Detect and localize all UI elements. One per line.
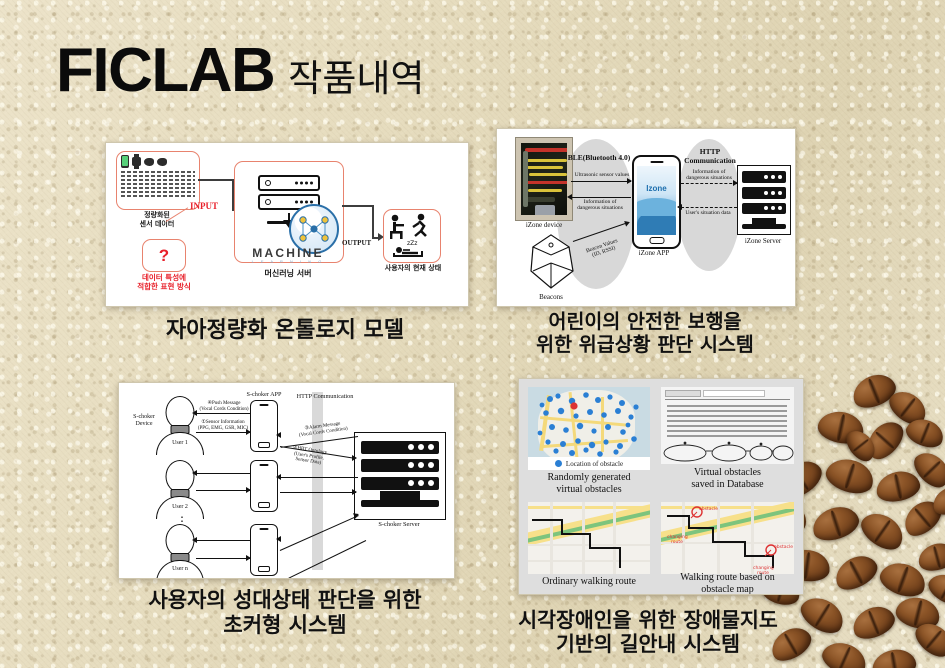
- arrow-push-2: [196, 473, 250, 474]
- arrowhead-hbt-1: [352, 455, 357, 461]
- page-subtitle: 작품내역: [288, 60, 424, 97]
- coffee-bean: [855, 506, 909, 556]
- arrow-hbt-2: [280, 492, 356, 493]
- phone-icon: [121, 155, 129, 168]
- label-danger-info: Information of dangerous situations: [571, 199, 629, 212]
- s-choker-device-label: S-choker Device: [122, 414, 166, 428]
- coffee-bean: [848, 601, 899, 644]
- question-box: ?: [142, 239, 186, 272]
- label-hbt-ontology: ②HBT Ontology (User's Profile, Sensor Da…: [279, 444, 339, 469]
- arrow-push-1: [196, 413, 250, 414]
- arrowhead-alarm-n: [276, 536, 281, 542]
- svg-text:obstacle: obstacle: [774, 544, 793, 550]
- arrowhead-sensor-n: [246, 555, 251, 561]
- label-danger-to-server: Information of dangerous situations: [679, 169, 739, 182]
- s-choker-server-label: S-choker Server: [356, 521, 442, 528]
- arrow-sensor-1: [196, 432, 250, 433]
- activity-pictograms: zZz: [384, 210, 440, 262]
- coffee-bean: [808, 501, 862, 545]
- page-title: FICLAB 작품내역: [56, 40, 424, 102]
- sensor-data-label: 정량화된 센서 데이터: [110, 211, 204, 229]
- user-2-label: User 2: [150, 504, 210, 510]
- input-word: INPUT: [190, 201, 218, 211]
- database-table-image: [661, 387, 794, 464]
- coffee-bean: [873, 468, 922, 506]
- sub-caption-3: Ordinary walking route: [523, 576, 655, 588]
- sensor-data-box: [116, 151, 200, 210]
- arrowhead-alarm-1: [276, 432, 281, 438]
- ordinary-route-image: [528, 502, 650, 574]
- question-mark: ?: [143, 240, 185, 271]
- phone-user-2: [250, 460, 278, 512]
- arrow-ultrasonic: [571, 181, 631, 182]
- http-band: [312, 392, 323, 570]
- arrowhead-hbt-2: [352, 489, 357, 495]
- izone-server-label: iZone Server: [731, 237, 795, 245]
- label-sensor-information: ①Sensor Information (PPG, EMG, GSR, MIC): [192, 420, 254, 431]
- project-caption-1: 자아정량화 온톨로지 모델: [75, 318, 495, 344]
- user-n-label: User n: [150, 566, 210, 572]
- arrow-danger-info: [571, 197, 631, 198]
- project-caption-2: 어린이의 안전한 보행을 위한 위급상황 판단 시스템: [480, 310, 810, 356]
- beacon-icon: [525, 233, 577, 291]
- ml-server-label: 머신러닝 서버: [234, 269, 342, 279]
- learning-word: L E A R N I N G: [234, 259, 342, 264]
- svg-text:zZz: zZz: [407, 240, 417, 247]
- sub-caption-2: Virtual obstacles saved in Database: [661, 467, 794, 491]
- izone-device-photo: [515, 137, 573, 221]
- izone-app-label: iZone APP: [622, 249, 686, 257]
- question-label: 데이터 특성에 적합한 표현 방식: [124, 273, 204, 292]
- izone-device-label: iZone device: [509, 221, 579, 229]
- arrowhead-alarm-2: [276, 474, 281, 480]
- label-push-message: ④Push Message (Vocal Cords Condition): [194, 401, 254, 412]
- beacons-label: Beacons: [521, 293, 581, 301]
- output-word: OUTPUT: [342, 239, 371, 247]
- device-icons: [121, 155, 167, 168]
- machine-word: MACHINE: [234, 246, 342, 260]
- user-state-box: zZz: [383, 209, 441, 263]
- arrowhead-sensor-2: [246, 487, 251, 493]
- ble-title: BLE(Bluetooth 4.0): [563, 153, 635, 162]
- sub-caption-1: Randomly generated virtual obstacles: [523, 472, 655, 496]
- legend-text: Location of obstacle: [566, 460, 623, 468]
- http-communication-label: HTTP Communication: [282, 393, 368, 400]
- coffee-bean: [818, 636, 871, 668]
- arrow-alarm-2: [280, 477, 358, 478]
- user-state-label: 사용자의 현재 상태: [368, 264, 458, 273]
- app-logo-text: Izone: [637, 184, 676, 193]
- arrow-user-situation: [681, 207, 737, 208]
- arrow-sensor-2: [196, 490, 250, 491]
- data-lines: [121, 171, 195, 199]
- brand-name: FICLAB: [56, 40, 274, 102]
- arrow-danger-to-server: [681, 183, 737, 184]
- project-image-4[interactable]: Location of obstacle Randomly generated …: [518, 378, 804, 595]
- connector-ml-v: [372, 205, 374, 239]
- obstacle-marker-icon: [555, 460, 562, 467]
- izone-app-phone: Izone: [632, 155, 681, 249]
- svg-text:obstacle: obstacle: [699, 506, 718, 512]
- arrowhead-push-2: [192, 470, 197, 476]
- user-1-label: User 1: [150, 440, 210, 446]
- sub-caption-4: Walking route based on obstacle map: [661, 572, 794, 595]
- arrowhead-ultrasonic: [627, 178, 632, 184]
- arrow-push-n: [196, 540, 250, 541]
- map-legend: Location of obstacle: [528, 457, 650, 470]
- connector-ml-h: [342, 205, 374, 207]
- label-user-situation: User's situation data: [677, 210, 739, 216]
- arrowhead-push-n: [192, 537, 197, 543]
- project-image-2[interactable]: iZone device Beacons Izone iZone APP: [496, 128, 796, 307]
- arrow-sensor-n: [196, 558, 250, 559]
- obstacle-route-image: obstacle changing route obstacle changin…: [661, 502, 794, 574]
- http-title: HTTP Communication: [679, 147, 741, 165]
- project-image-1[interactable]: 정량화된 센서 데이터 ? 데이터 특성에 적합한 표현 방식 INPUT: [105, 142, 469, 307]
- coffee-bean: [870, 646, 918, 668]
- phone-user-n: [250, 524, 278, 576]
- earbud-icon: [144, 158, 154, 166]
- obstacle-map-image: Location of obstacle: [528, 387, 650, 470]
- coffee-bean: [830, 549, 882, 595]
- svg-text:route: route: [671, 539, 683, 545]
- arrowhead-user-situation: [677, 204, 682, 210]
- arrow-alarm-n: [288, 540, 366, 579]
- smartwatch-icon: [132, 157, 141, 166]
- project-caption-3: 사용자의 성대상태 판단을 위한 초커형 시스템: [70, 588, 500, 638]
- s-choker-server-icon: [354, 432, 446, 520]
- earbud-icon-2: [157, 158, 167, 166]
- coffee-bean: [915, 540, 945, 575]
- project-image-3[interactable]: S-choker Device User 1 User 2 ⋮ User n S…: [118, 382, 455, 579]
- connector-src-h: [198, 179, 234, 181]
- phone-user-1: [250, 400, 278, 452]
- izone-server-icon: [737, 165, 791, 235]
- label-ultrasonic: Ultrasonic sensor values: [573, 172, 631, 178]
- project-caption-4: 시각장애인을 위한 장애물지도 기반의 길안내 시스템: [478, 608, 818, 656]
